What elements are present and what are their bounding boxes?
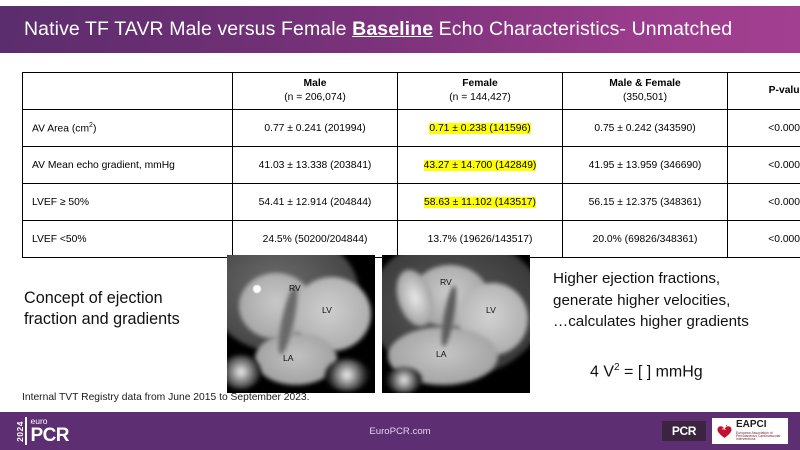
title-emphasis: Baseline [352, 18, 433, 40]
concept-line-1: Concept of ejection [24, 288, 214, 309]
cell-both: 20.0% (69826/348361) [563, 221, 728, 258]
cell-male: 41.03 ± 13.338 (203841) [233, 147, 398, 184]
title-part-before: Native TF TAVR Male versus Female [24, 18, 352, 40]
echo-label-lv: LV [322, 305, 332, 315]
row-metric-text: AV Area (cm [32, 123, 89, 134]
table-row: LVEF <50% 24.5% (50200/204844) 13.7% (19… [23, 221, 800, 258]
header-pvalue: P-value [728, 73, 800, 110]
header-female-count: (n = 144,427) [404, 91, 556, 105]
header-both: Male & Female (350,501) [563, 73, 728, 110]
highlighted-value: 43.27 ± 14.700 (142849) [424, 160, 537, 171]
cell-pvalue: <0.0001 [728, 184, 800, 221]
row-metric: AV Mean echo gradient, mmHg [23, 147, 233, 184]
explanation-line-1: Higher ejection fractions, [553, 268, 793, 290]
row-metric: LVEF <50% [23, 221, 233, 258]
logo-year: 2024 [14, 421, 25, 442]
logo-euro-text: euro [31, 417, 69, 426]
source-footnote: Internal TVT Registry data from June 201… [22, 392, 310, 403]
echo-label-la: LA [436, 349, 447, 359]
heart-icon [716, 423, 733, 440]
concept-line-2: fraction and gradients [24, 309, 214, 330]
echo-label-rv: RV [440, 277, 452, 287]
row-metric: LVEF ≥ 50% [23, 184, 233, 221]
eapci-name: EAPCI [736, 420, 788, 430]
echo-image-left: RV LV LA [227, 255, 375, 393]
header-metric [23, 73, 233, 110]
echo-label-la: LA [283, 353, 294, 363]
echo-label-lv: LV [486, 305, 496, 315]
cell-female: 13.7% (19626/143517) [398, 221, 563, 258]
echo-bright-artifact [386, 367, 422, 393]
highlighted-value: 58.63 ± 11.102 (143517) [424, 197, 536, 208]
header-both-count: (350,501) [569, 91, 721, 105]
cell-both: 0.75 ± 0.242 (343590) [563, 110, 728, 147]
cell-female: 43.27 ± 14.700 (142849) [398, 147, 563, 184]
cell-male: 24.5% (50200/204844) [233, 221, 398, 258]
cell-both: 56.15 ± 12.375 (348361) [563, 184, 728, 221]
cell-pvalue: <0.0001 [728, 147, 800, 184]
table-row: AV Area (cm2) 0.77 ± 0.241 (201994) 0.71… [23, 110, 800, 147]
highlighted-value: 0.71 ± 0.238 (141596) [429, 123, 530, 134]
title-part-after: Echo Characteristics- Unmatched [433, 18, 732, 40]
table-row: LVEF ≥ 50% 54.41 ± 12.914 (204844) 58.63… [23, 184, 800, 221]
header-male: Male (n = 206,074) [233, 73, 398, 110]
cell-both: 41.95 ± 13.959 (346690) [563, 147, 728, 184]
slide-title-bar: Native TF TAVR Male versus Female Baseli… [0, 6, 800, 53]
pcr-logo: PCR [662, 421, 706, 441]
explanation-text: Higher ejection fractions, generate high… [553, 268, 793, 333]
eapci-subtitle: European Association of Percutaneous Car… [736, 432, 788, 442]
cell-female: 58.63 ± 11.102 (143517) [398, 184, 563, 221]
echo-image-right: RV LV LA [382, 255, 530, 393]
eapci-logo: EAPCI European Association of Percutaneo… [712, 418, 788, 444]
echo-label-rv: RV [289, 283, 301, 293]
echo-bright-artifact-left [227, 355, 261, 389]
concept-caption: Concept of ejection fraction and gradien… [24, 288, 214, 331]
europcr-logo: 2024 euro PCR [14, 415, 69, 447]
echo-characteristics-table: Male (n = 206,074) Female (n = 144,427) … [22, 72, 800, 258]
formula-prefix: 4 V [590, 363, 614, 380]
header-pvalue-label: P-value [734, 84, 800, 98]
header-male-count: (n = 206,074) [239, 91, 391, 105]
slide-footer: EuroPCR.com 2024 euro PCR PCR EAPCI Euro… [0, 412, 800, 450]
eapci-text: EAPCI European Association of Percutaneo… [736, 420, 788, 442]
cell-pvalue: <0.0001 [728, 110, 800, 147]
explanation-line-3: …calculates higher gradients [553, 311, 793, 333]
header-female-label: Female [404, 77, 556, 91]
header-female: Female (n = 144,427) [398, 73, 563, 110]
cell-male: 54.41 ± 12.914 (204844) [233, 184, 398, 221]
cell-pvalue: <0.0001 [728, 221, 800, 258]
page-title: Native TF TAVR Male versus Female Baseli… [0, 18, 732, 41]
bernoulli-formula: 4 V2 = [ ] mmHg [590, 362, 703, 381]
row-metric: AV Area (cm2) [23, 110, 233, 147]
logo-wordmark: euro PCR [25, 417, 69, 446]
echo-marker-dot [253, 285, 261, 293]
table-header-row: Male (n = 206,074) Female (n = 144,427) … [23, 73, 800, 110]
row-metric-tail: ) [93, 123, 96, 134]
explanation-line-2: generate higher velocities, [553, 290, 793, 312]
cell-male: 0.77 ± 0.241 (201994) [233, 110, 398, 147]
cell-female: 0.71 ± 0.238 (141596) [398, 110, 563, 147]
logo-pcr-text: PCR [31, 426, 69, 445]
formula-suffix: = [ ] mmHg [620, 363, 703, 380]
header-both-label: Male & Female [569, 77, 721, 91]
header-male-label: Male [239, 77, 391, 91]
echo-bright-artifact-right [325, 359, 369, 391]
table-row: AV Mean echo gradient, mmHg 41.03 ± 13.3… [23, 147, 800, 184]
